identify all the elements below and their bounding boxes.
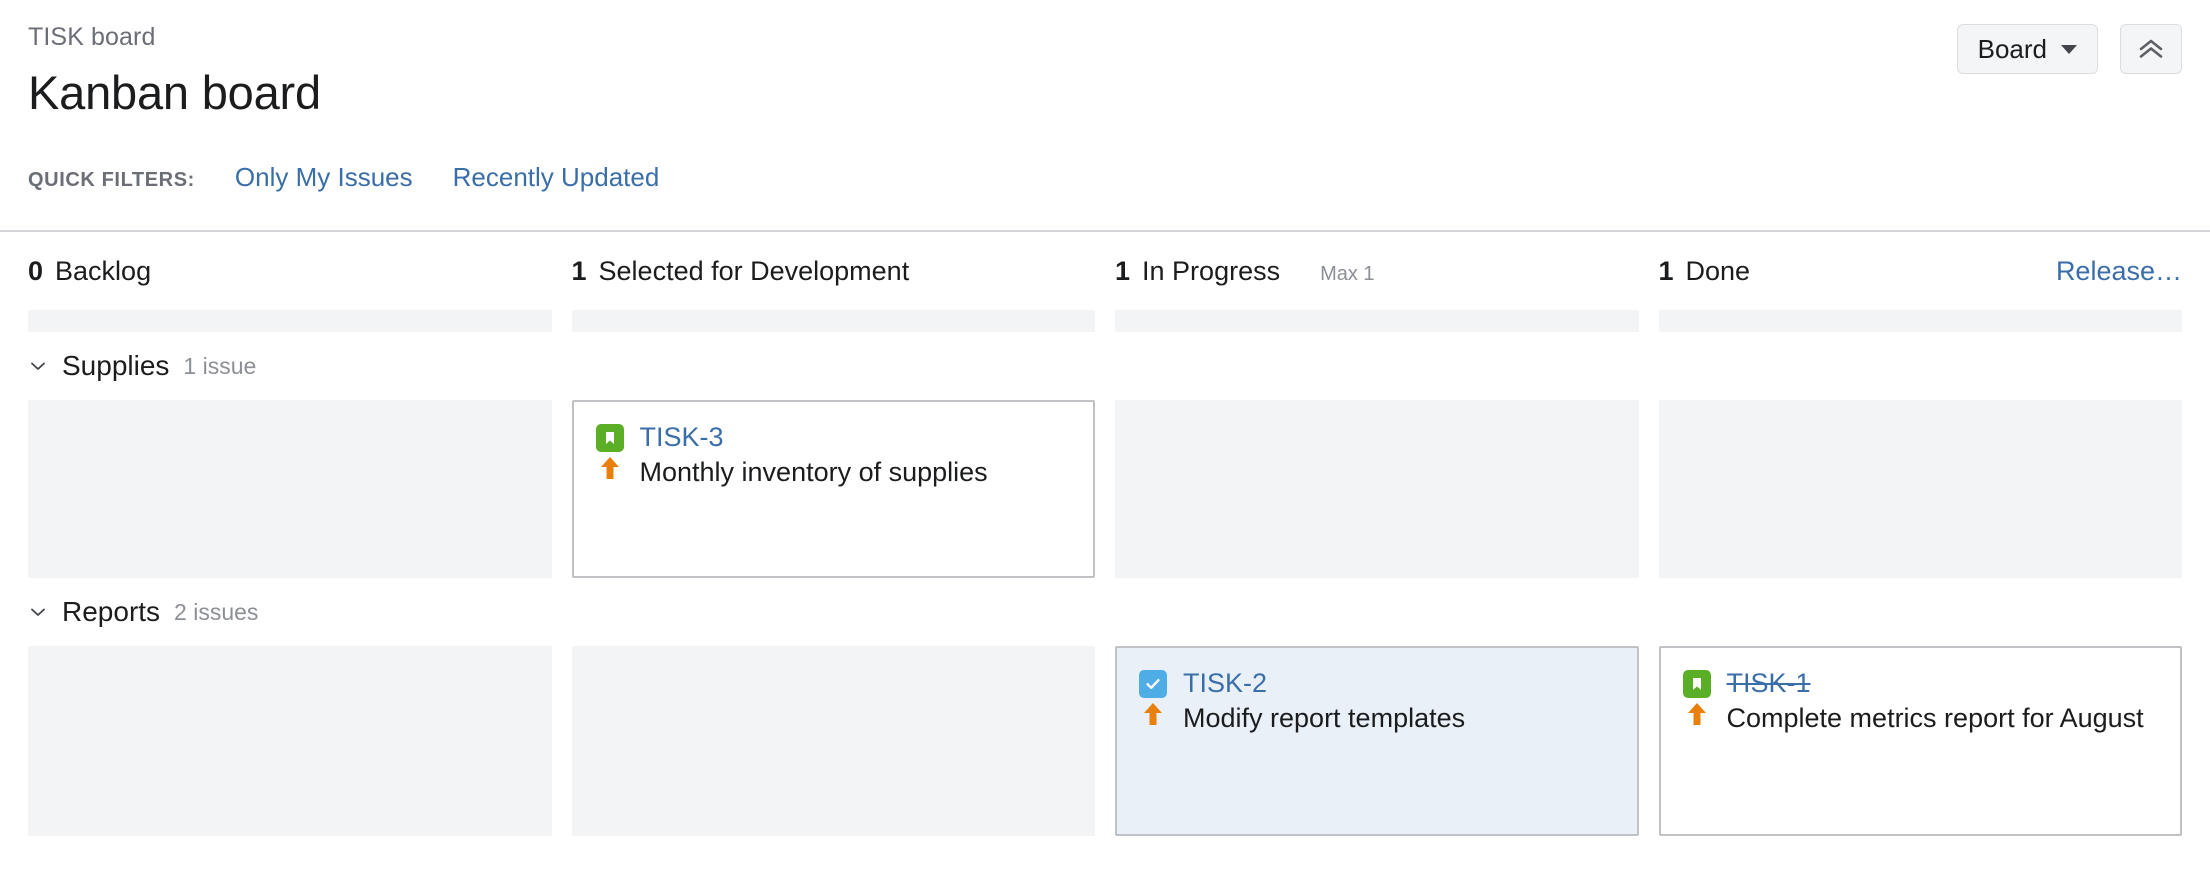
column-header-done[interactable]: 1 Done Release…: [1659, 256, 2183, 287]
quick-filter-only-my-issues[interactable]: Only My Issues: [235, 162, 413, 193]
swimlane-issue-count: 1 issue: [183, 353, 256, 380]
column-count: 0: [28, 256, 43, 287]
column-count: 1: [1659, 256, 1674, 287]
card-key-row: TISK-1: [1683, 668, 2159, 699]
story-icon: [1683, 670, 1711, 698]
column-name: Backlog: [55, 256, 151, 287]
issue-summary: Complete metrics report for August: [1727, 699, 2144, 736]
quick-filters-label: QUICK FILTERS:: [28, 169, 195, 192]
column-max-constraint: Max 1: [1320, 263, 1374, 286]
board-header: TISK board Kanban board Board QUICK FILT…: [0, 0, 2210, 230]
lane-cell-reports-backlog[interactable]: [28, 646, 552, 836]
column-name: Done: [1686, 256, 1751, 287]
column-strip-backlog: [28, 310, 552, 332]
header-actions: Board: [1957, 24, 2182, 74]
priority-arrow-up-icon: [596, 453, 624, 483]
swimlane-row-reports: TISK-2 Modify report templates: [0, 646, 2210, 836]
board-dropdown-label: Board: [1978, 34, 2047, 65]
chevron-down-icon[interactable]: [28, 602, 48, 622]
double-chevron-up-icon: [2138, 38, 2164, 60]
card-summary-row: Monthly inventory of supplies: [596, 453, 1072, 490]
priority-arrow-up-icon: [1139, 699, 1167, 729]
issue-summary: Modify report templates: [1183, 699, 1465, 736]
chevron-down-icon[interactable]: [28, 356, 48, 376]
priority-arrow-up-icon: [1683, 699, 1711, 729]
board-dropdown-button[interactable]: Board: [1957, 24, 2098, 74]
chevron-down-icon: [2061, 45, 2077, 54]
card-key-row: TISK-2: [1139, 668, 1615, 699]
breadcrumb[interactable]: TISK board: [28, 22, 2182, 52]
issue-key-link[interactable]: TISK-1: [1727, 668, 1811, 699]
lane-cell-supplies-done[interactable]: [1659, 400, 2183, 578]
page-title: Kanban board: [28, 64, 2182, 123]
swimlane-header-reports[interactable]: Reports 2 issues: [0, 578, 2210, 646]
swimlane-row-supplies: TISK-3 Monthly inventory of supplies: [0, 400, 2210, 578]
swimlane-issue-count: 2 issues: [174, 599, 258, 626]
column-header-selected-for-development[interactable]: 1 Selected for Development: [572, 256, 1096, 287]
kanban-board-page: TISK board Kanban board Board QUICK FILT…: [0, 0, 2210, 890]
issue-key-link[interactable]: TISK-2: [1183, 668, 1267, 699]
lane-cell-supplies-in-progress[interactable]: [1115, 400, 1639, 578]
swimlane-name: Reports: [62, 596, 160, 628]
column-header-in-progress[interactable]: 1 In Progress Max 1: [1115, 256, 1639, 287]
card-summary-row: Complete metrics report for August: [1683, 699, 2159, 736]
column-strip-in-progress: [1115, 310, 1639, 332]
column-strip-done: [1659, 310, 2183, 332]
column-strip-selected-for-development: [572, 310, 1096, 332]
column-name: Selected for Development: [599, 256, 910, 287]
lane-cell-supplies-backlog[interactable]: [28, 400, 552, 578]
column-count: 1: [1115, 256, 1130, 287]
issue-summary: Monthly inventory of supplies: [640, 453, 988, 490]
issue-card-tisk-1[interactable]: TISK-1 Complete metrics report for Augus…: [1659, 646, 2183, 836]
story-icon: [596, 424, 624, 452]
quick-filters-bar: QUICK FILTERS: Only My Issues Recently U…: [28, 162, 659, 193]
column-headers: 0 Backlog 1 Selected for Development 1 I…: [0, 232, 2210, 310]
swimlane-header-supplies[interactable]: Supplies 1 issue: [0, 332, 2210, 400]
column-name: In Progress: [1142, 256, 1280, 287]
column-count: 1: [572, 256, 587, 287]
lane-cell-reports-done[interactable]: TISK-1 Complete metrics report for Augus…: [1659, 646, 2183, 836]
column-header-backlog[interactable]: 0 Backlog: [28, 256, 552, 287]
collapse-header-button[interactable]: [2120, 24, 2182, 74]
lane-cell-reports-selected-for-development[interactable]: [572, 646, 1096, 836]
swimlane-name: Supplies: [62, 350, 169, 382]
issue-card-tisk-2[interactable]: TISK-2 Modify report templates: [1115, 646, 1639, 836]
quick-filter-recently-updated[interactable]: Recently Updated: [453, 162, 660, 193]
card-summary-row: Modify report templates: [1139, 699, 1615, 736]
issue-key-link[interactable]: TISK-3: [640, 422, 724, 453]
release-link[interactable]: Release…: [2056, 256, 2182, 287]
lane-cell-reports-in-progress[interactable]: TISK-2 Modify report templates: [1115, 646, 1639, 836]
task-icon: [1139, 670, 1167, 698]
column-drop-strips: [0, 310, 2210, 332]
card-key-row: TISK-3: [596, 422, 1072, 453]
lane-cell-supplies-selected-for-development[interactable]: TISK-3 Monthly inventory of supplies: [572, 400, 1096, 578]
board-area: 0 Backlog 1 Selected for Development 1 I…: [0, 232, 2210, 890]
issue-card-tisk-3[interactable]: TISK-3 Monthly inventory of supplies: [572, 400, 1096, 578]
